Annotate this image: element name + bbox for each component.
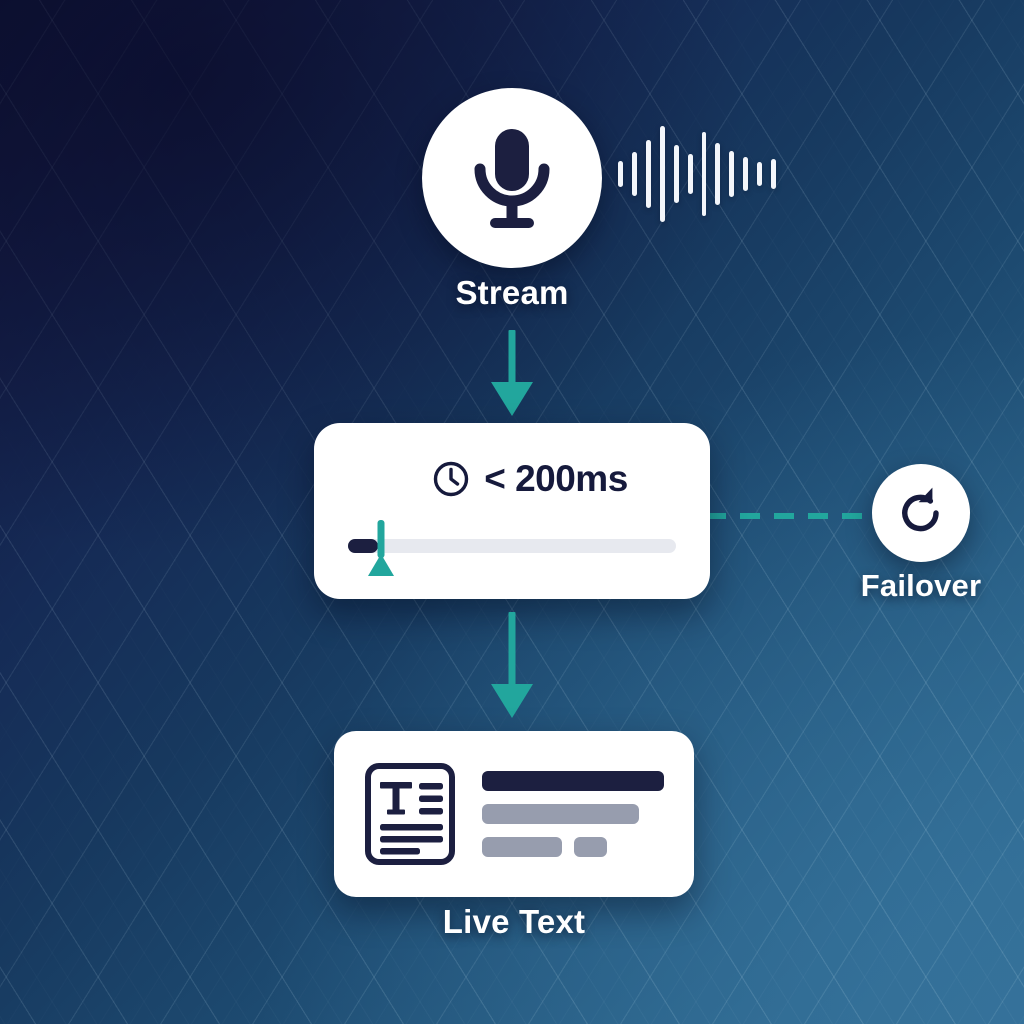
arrow-shaft <box>509 612 516 688</box>
waveform-bar <box>715 143 720 205</box>
clock-icon <box>432 460 470 498</box>
waveform-bar <box>743 157 748 191</box>
waveform-bar <box>688 154 693 194</box>
arrow-head <box>491 382 533 416</box>
waveform-bar <box>771 159 776 189</box>
livetext-card[interactable]: Live Text <box>334 731 694 897</box>
latency-value: < 200ms <box>484 458 628 500</box>
skeleton-row <box>482 804 664 824</box>
stream-icon-circle[interactable] <box>422 88 602 268</box>
diagram-canvas: Stream < 200ms <box>0 0 1024 1024</box>
arrow-stream-to-latency <box>482 330 542 416</box>
failover-icon-circle[interactable] <box>872 464 970 562</box>
failover-node[interactable]: Failover <box>872 464 970 562</box>
stream-node[interactable]: Stream <box>422 88 602 268</box>
waveform-bar <box>729 151 734 197</box>
waveform-bar <box>757 162 762 186</box>
refresh-cw-icon <box>892 484 950 542</box>
skeleton-bar <box>482 771 664 791</box>
latency-card[interactable]: < 200ms <box>314 423 710 599</box>
skeleton-bar <box>482 804 639 824</box>
dashed-line <box>706 513 878 519</box>
arrow-latency-to-livetext <box>482 612 542 720</box>
waveform-bar <box>618 161 623 187</box>
arrow-shaft <box>509 330 516 386</box>
skeleton-row <box>482 771 664 791</box>
failover-dashed-connector <box>706 513 878 519</box>
livetext-skeleton-lines <box>482 771 664 857</box>
livetext-card-label: Live Text <box>334 903 694 941</box>
waveform-bar <box>660 126 665 222</box>
latency-readout: < 200ms <box>348 458 676 500</box>
text-document-icon <box>364 762 456 866</box>
arrow-head <box>491 684 533 718</box>
waveform-bar <box>674 145 679 203</box>
marker-stem <box>377 520 384 558</box>
waveform-bar <box>646 140 651 208</box>
slider-track[interactable] <box>348 539 676 553</box>
waveform-bar <box>702 132 707 216</box>
skeleton-row <box>482 837 664 857</box>
failover-node-label: Failover <box>846 568 996 604</box>
stream-node-label: Stream <box>422 274 602 312</box>
skeleton-bar <box>574 837 607 857</box>
slider-marker-icon[interactable] <box>368 520 394 576</box>
audio-waveform-icon <box>618 118 776 230</box>
latency-slider[interactable] <box>348 526 676 564</box>
waveform-bar <box>632 152 637 196</box>
skeleton-bar <box>482 837 562 857</box>
microphone-icon <box>464 123 560 233</box>
marker-flare <box>368 554 394 576</box>
